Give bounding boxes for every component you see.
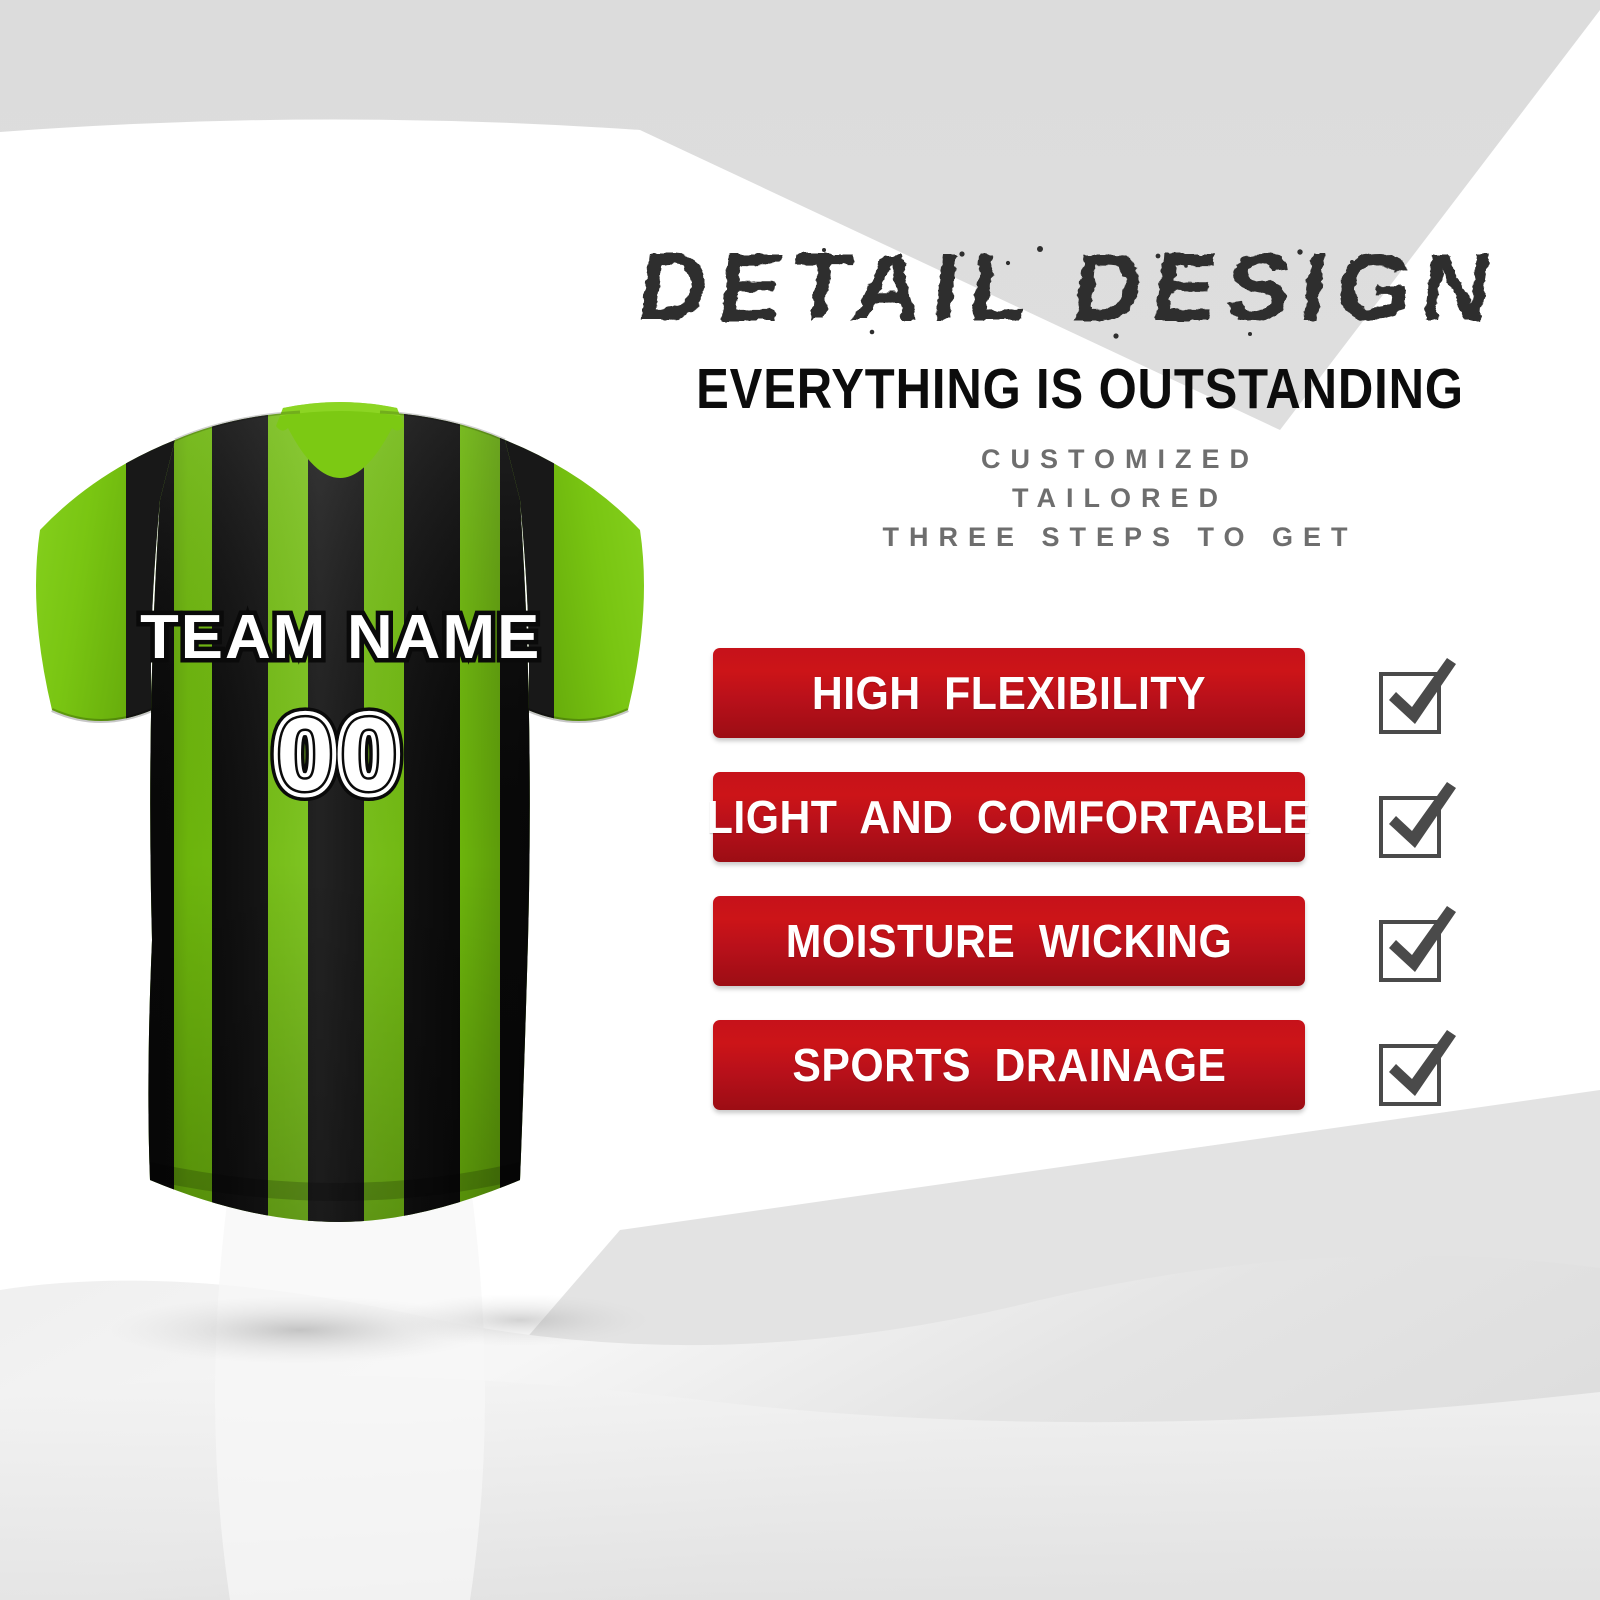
feature-row: HIGH FLEXIBILITY — [713, 648, 1543, 738]
tagline-item: CUSTOMIZED — [670, 440, 1570, 479]
checkbox-checked-icon[interactable] — [1365, 768, 1465, 868]
feature-bar-moisture-wicking[interactable]: MOISTURE WICKING — [713, 896, 1305, 986]
tagline-list: CUSTOMIZED TAILORED THREE STEPS TO GET — [670, 440, 1570, 557]
page-title-text: DETAIL DESIGN — [632, 236, 1508, 341]
checkbox-checked-icon[interactable] — [1365, 892, 1465, 992]
checkbox-checked-icon[interactable] — [1365, 1016, 1465, 1116]
jersey-number-text: 00 — [276, 697, 404, 813]
jersey-team-name-text: TEAM NAME — [140, 603, 541, 672]
checkbox-checked-icon[interactable] — [1365, 644, 1465, 744]
feature-label: LIGHT AND COMFORTABLE — [707, 790, 1312, 844]
feature-bar-sports-drainage[interactable]: SPORTS DRAINAGE — [713, 1020, 1305, 1110]
feature-list: HIGH FLEXIBILITY LIGHT AND COMFORTABLE — [713, 648, 1543, 1144]
feature-row: LIGHT AND COMFORTABLE — [713, 772, 1543, 862]
feature-row: MOISTURE WICKING — [713, 896, 1543, 986]
feature-row: SPORTS DRAINAGE — [713, 1020, 1543, 1110]
feature-label: HIGH FLEXIBILITY — [812, 666, 1206, 720]
feature-bar-high-flexibility[interactable]: HIGH FLEXIBILITY — [713, 648, 1305, 738]
marketing-copy-column: DETAIL DESIGN — [610, 0, 1600, 1600]
page-title: DETAIL DESIGN — [610, 236, 1530, 346]
page-subtitle: EVERYTHING IS OUTSTANDING — [667, 358, 1493, 420]
tagline-item: TAILORED — [670, 479, 1570, 518]
poster-canvas: TEAM NAME 00 00 00 00 DETAIL DESIGN — [0, 0, 1600, 1600]
product-jersey-image: TEAM NAME 00 00 00 00 — [0, 380, 680, 1280]
feature-label: SPORTS DRAINAGE — [792, 1038, 1226, 1092]
feature-label: MOISTURE WICKING — [786, 914, 1232, 968]
tagline-item: THREE STEPS TO GET — [670, 518, 1570, 557]
feature-bar-light-and-comfortable[interactable]: LIGHT AND COMFORTABLE — [713, 772, 1305, 862]
